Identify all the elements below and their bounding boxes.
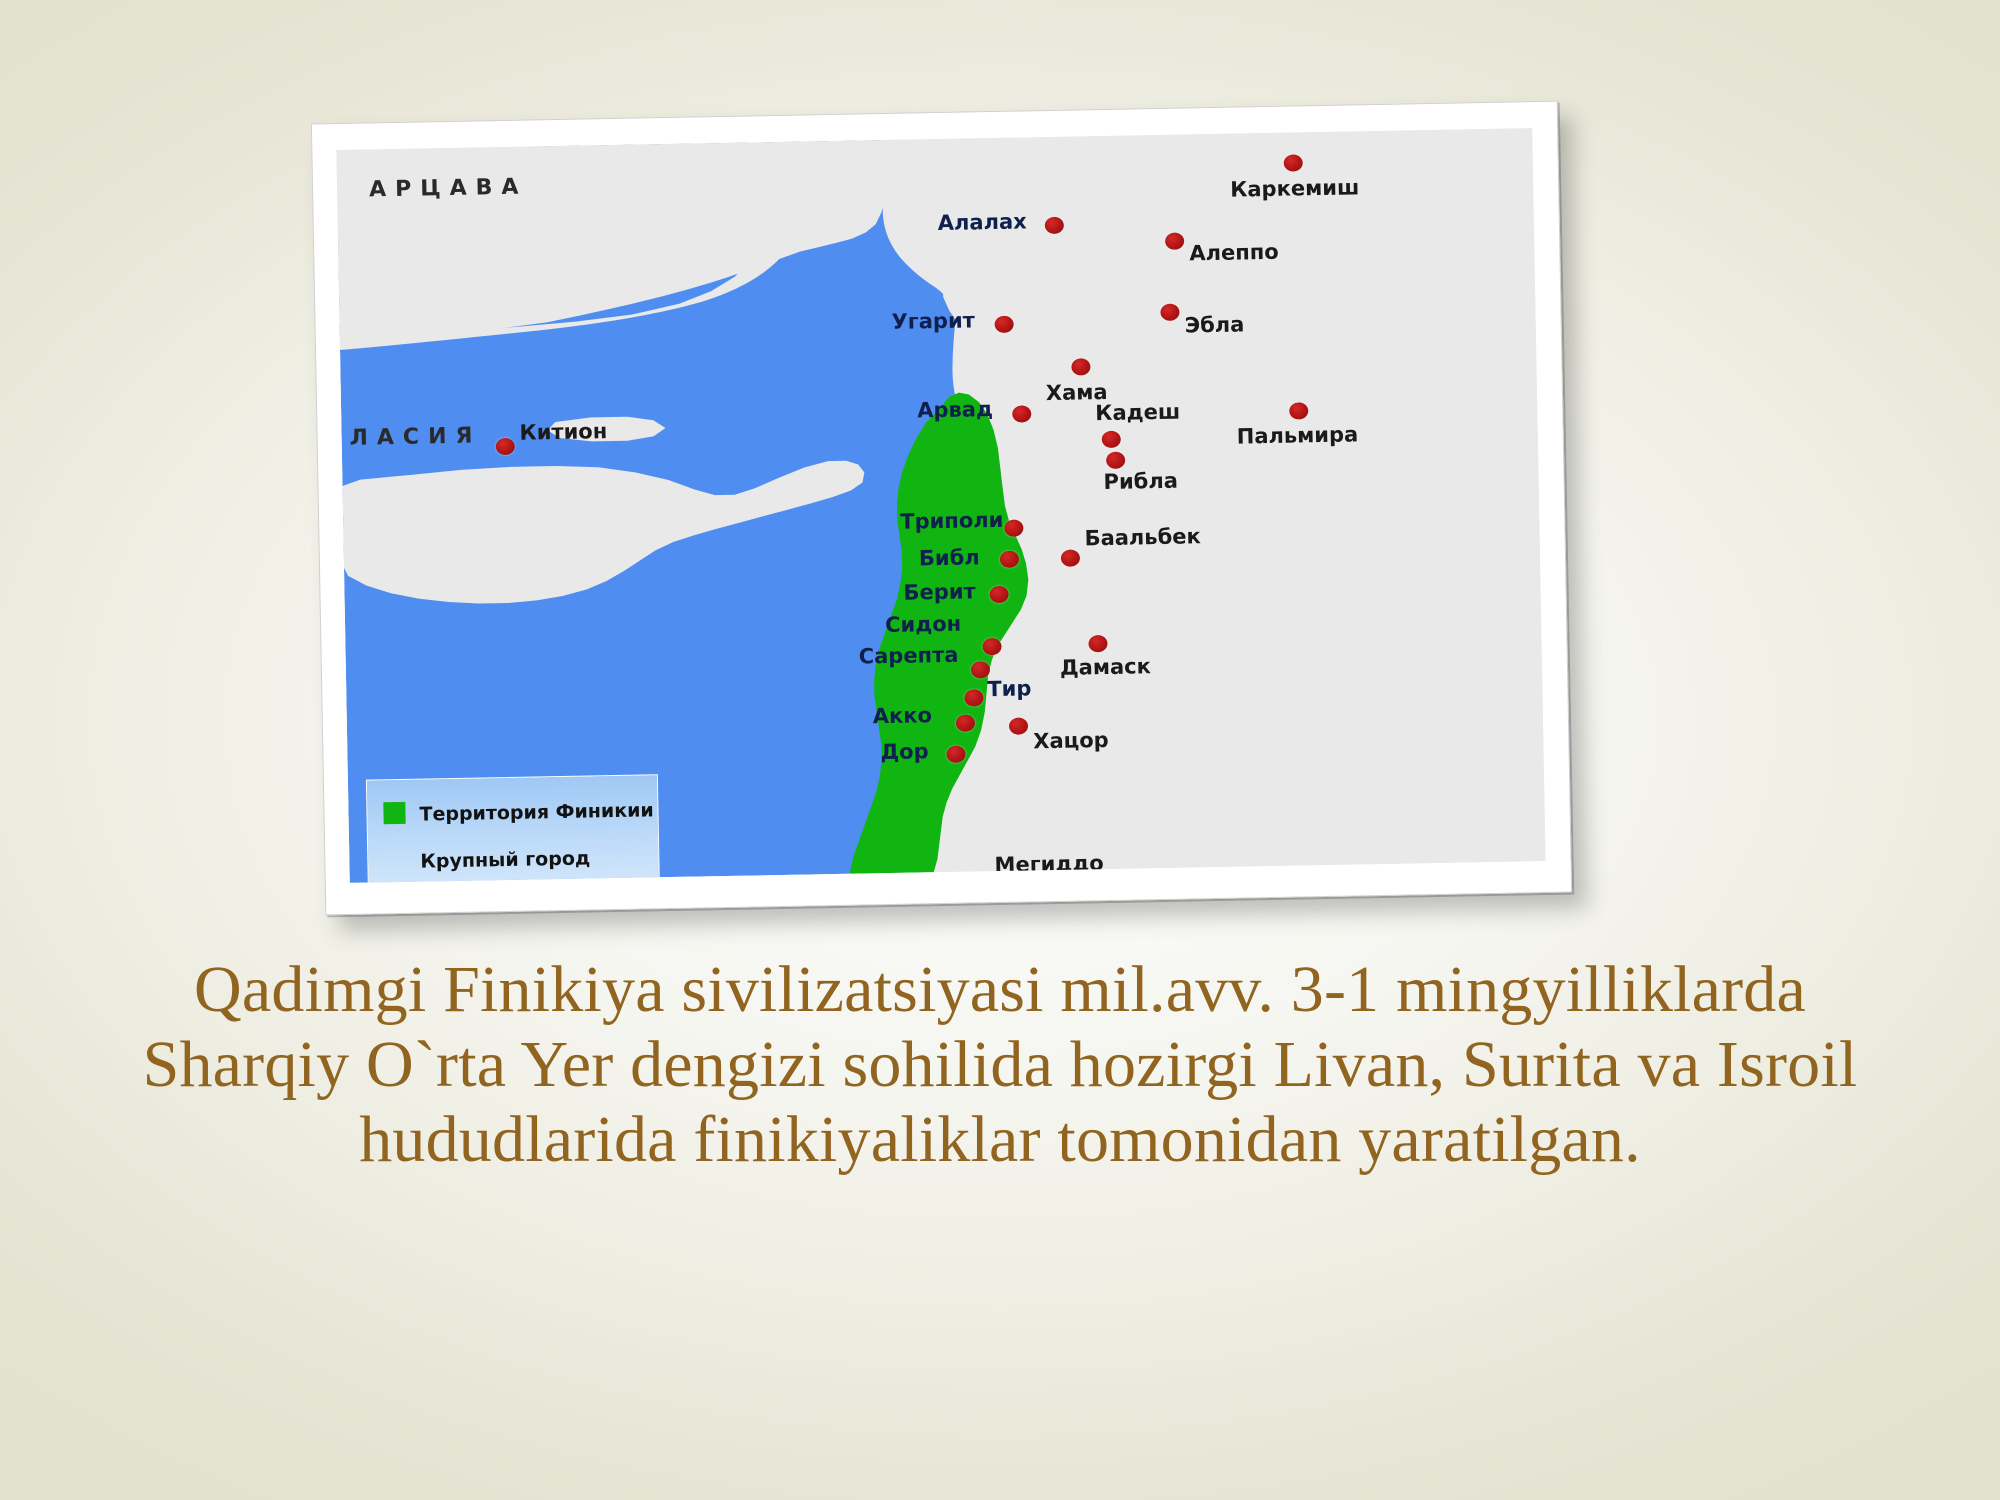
city-label-megiddo: Мегиддо — [994, 853, 1104, 876]
region-label-arzava: АРЦАВА — [369, 175, 528, 203]
city-label-sarepta: Сарепта — [859, 645, 959, 668]
map-legend: Территория Финикии Крупный город — [366, 774, 660, 883]
slide-canvas: АРЦАВА АЛАСИЯ Каркемиш Алалах Алеппо Уга… — [0, 0, 2000, 1500]
city-label-sidon: Сидон — [885, 614, 961, 636]
city-label-baalbek: Баальбек — [1084, 526, 1201, 549]
city-label-alalakh: Алалах — [938, 211, 1027, 234]
legend-label-territory: Территория Финикии — [419, 799, 654, 825]
city-label-tripoli: Триполи — [900, 510, 1003, 533]
city-label-kition: Китион — [519, 421, 607, 444]
city-label-ribla: Рибла — [1103, 471, 1178, 493]
city-label-palmyra: Пальмира — [1237, 424, 1359, 447]
map-image[interactable]: АРЦАВА АЛАСИЯ Каркемиш Алалах Алеппо Уга… — [336, 128, 1545, 883]
city-label-kadesh: Кадеш — [1095, 402, 1180, 425]
city-label-arvad: Арвад — [917, 399, 993, 421]
city-label-hazor: Хацор — [1033, 730, 1109, 752]
city-label-damascus: Дамаск — [1060, 656, 1151, 679]
map-picture-frame[interactable]: АРЦАВА АЛАСИЯ Каркемиш Алалах Алеппо Уга… — [311, 101, 1572, 916]
city-label-tyre: Тир — [987, 678, 1031, 700]
region-label-alashiya: АЛАСИЯ — [336, 423, 481, 451]
city-label-ugarit: Угарит — [891, 310, 975, 333]
legend-label-city: Крупный город — [420, 847, 590, 872]
map-vector-graphics — [336, 128, 1545, 883]
city-label-akko: Акко — [873, 705, 933, 727]
city-label-berytus: Берит — [903, 581, 976, 603]
city-label-dor: Дор — [880, 741, 929, 763]
slide-caption: Qadimgi Finikiya sivilizatsiyasi mil.avv… — [120, 952, 1880, 1178]
city-label-byblos: Библ — [919, 547, 980, 569]
legend-swatch-territory — [383, 802, 405, 824]
city-label-karkemish: Каркемиш — [1230, 177, 1359, 200]
city-label-aleppo: Алеппо — [1189, 242, 1279, 265]
city-label-ebla: Эбла — [1185, 314, 1245, 336]
